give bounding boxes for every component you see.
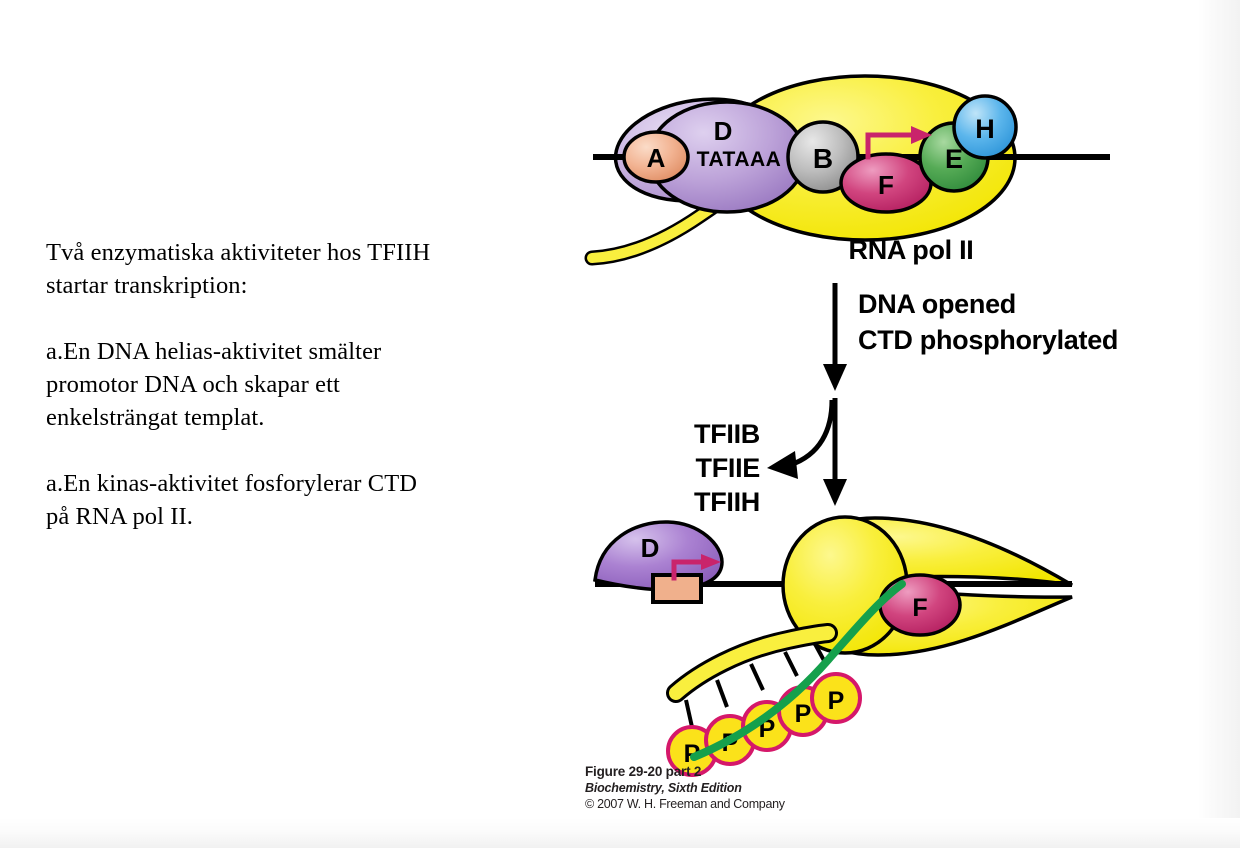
top-complex-group: A D TATAAA B F E H RNA pol II (592, 76, 1110, 265)
factor-D-label-top: D (714, 116, 733, 146)
factor-H-label-top: H (975, 114, 995, 144)
factor-D-label-bottom: D (641, 533, 660, 563)
released-factor-3: TFIIH (694, 487, 760, 517)
factor-A-label-top: A (647, 143, 666, 173)
released-factor-2: TFIIE (696, 453, 761, 483)
svg-text:P: P (828, 687, 845, 715)
bottom-complex-group: F D (595, 517, 1072, 775)
step-label-line-1: DNA opened (858, 289, 1016, 319)
factor-F-label-top: F (878, 170, 894, 200)
factor-B-label-top: B (813, 143, 833, 174)
rna-pol-ii-label-top: RNA pol II (849, 235, 974, 265)
released-factor-1: TFIIB (694, 419, 760, 449)
figure-caption: Figure 29-20 part 2 Biochemistry, Sixth … (585, 764, 915, 812)
tata-box-bottom (653, 575, 701, 602)
factor-F-label-bottom: F (912, 594, 927, 622)
figure-diagram: A D TATAAA B F E H RNA pol II DNA opened… (0, 0, 1240, 848)
phosphate-circle: P (812, 674, 860, 722)
slide-canvas: Två enzymatiska aktiviteter hos TFIIH st… (0, 0, 1240, 848)
step-label-line-2: CTD phosphorylated (858, 325, 1118, 355)
caption-copyright: © 2007 W. H. Freeman and Company (585, 796, 915, 812)
caption-book: Biochemistry, Sixth Edition (585, 780, 915, 796)
svg-text:P: P (795, 700, 812, 728)
step-arrow-dna-opened: DNA opened CTD phosphorylated (823, 283, 1118, 391)
caption-title: Figure 29-20 part 2 (585, 764, 915, 780)
tata-box-label-top: TATAAA (697, 148, 782, 171)
step-arrow-factor-release: TFIIB TFIIE TFIIH (694, 398, 847, 517)
factor-E-label-top: E (945, 144, 963, 174)
